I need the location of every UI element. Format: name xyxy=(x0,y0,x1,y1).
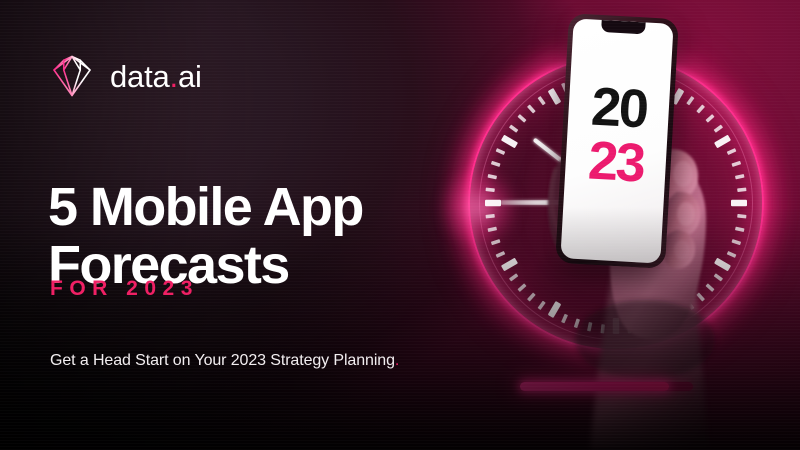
brand-wordmark: data.ai xyxy=(110,61,202,92)
diamond-gem-icon xyxy=(48,52,96,100)
eyebrow-label: FOR 2023 xyxy=(50,277,199,301)
brand-name-dot: . xyxy=(170,59,178,94)
subtitle-text: Get a Head Start on Your 2023 Strategy P… xyxy=(50,352,399,370)
brand-name-main: data xyxy=(110,59,170,94)
brand-name-suffix: ai xyxy=(178,59,202,94)
subtitle-copy: Get a Head Start on Your 2023 Strategy P… xyxy=(50,352,395,369)
headline-line-1: 5 Mobile App xyxy=(48,177,363,237)
subtitle-period: . xyxy=(395,352,399,369)
brand-logo[interactable]: data.ai xyxy=(48,52,202,100)
content-column: data.ai 5 Mobile AppForecasts FOR 2023 G… xyxy=(48,0,468,450)
promo-banner: 20 23 xyxy=(0,0,800,450)
